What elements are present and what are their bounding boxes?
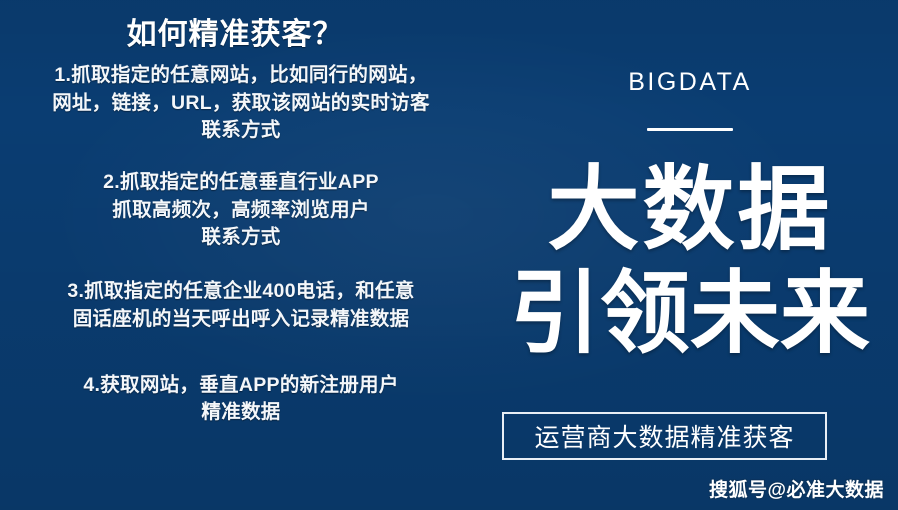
- list-item-line: 联系方式: [0, 117, 482, 145]
- list-item-line: 4.获取网站，垂直APP的新注册用户: [0, 372, 482, 400]
- list-item: 3.抓取指定的任意企业400电话，和任意 固话座机的当天呼出呼入记录精准数据: [0, 278, 482, 333]
- left-content-column: 如何精准获客？ 1.抓取指定的任意网站，比如同行的网站， 网址，链接，URL，获…: [0, 0, 482, 510]
- list-item-line: 2.抓取指定的任意垂直行业APP: [0, 169, 482, 197]
- list-item-line: 抓取高频次，高频率浏览用户: [0, 197, 482, 225]
- watermark: 搜狐号@必准大数据: [709, 475, 884, 502]
- section-title: 如何精准获客？: [0, 17, 470, 53]
- list-item-line: 网址，链接，URL，获取该网站的实时访客: [0, 90, 482, 118]
- list-item-line: 3.抓取指定的任意企业400电话，和任意: [0, 278, 482, 306]
- tagline-text: 运营商大数据精准获客: [534, 418, 794, 454]
- list-item-line: 联系方式: [0, 224, 482, 252]
- brand-eyebrow: BIGDATA: [482, 68, 898, 97]
- promo-banner: 如何精准获客？ 1.抓取指定的任意网站，比如同行的网站， 网址，链接，URL，获…: [0, 0, 898, 510]
- list-item: 1.抓取指定的任意网站，比如同行的网站， 网址，链接，URL，获取该网站的实时访…: [0, 62, 482, 145]
- headline-line-1: 大数据: [482, 158, 898, 263]
- headline: 大数据 引领未来: [482, 158, 898, 365]
- list-item-line: 1.抓取指定的任意网站，比如同行的网站，: [0, 62, 482, 90]
- feature-list: 1.抓取指定的任意网站，比如同行的网站， 网址，链接，URL，获取该网站的实时访…: [0, 62, 482, 427]
- right-branding-column: BIGDATA 大数据 引领未来 运营商大数据精准获客: [482, 0, 898, 510]
- list-item-line: 固话座机的当天呼出呼入记录精准数据: [0, 306, 482, 334]
- headline-line-2: 引领未来: [482, 263, 898, 366]
- divider-rule: [647, 128, 733, 131]
- list-item: 2.抓取指定的任意垂直行业APP 抓取高频次，高频率浏览用户 联系方式: [0, 169, 482, 252]
- list-item: 4.获取网站，垂直APP的新注册用户 精准数据: [0, 372, 482, 427]
- tagline-badge: 运营商大数据精准获客: [502, 412, 827, 460]
- list-item-line: 精准数据: [0, 399, 482, 427]
